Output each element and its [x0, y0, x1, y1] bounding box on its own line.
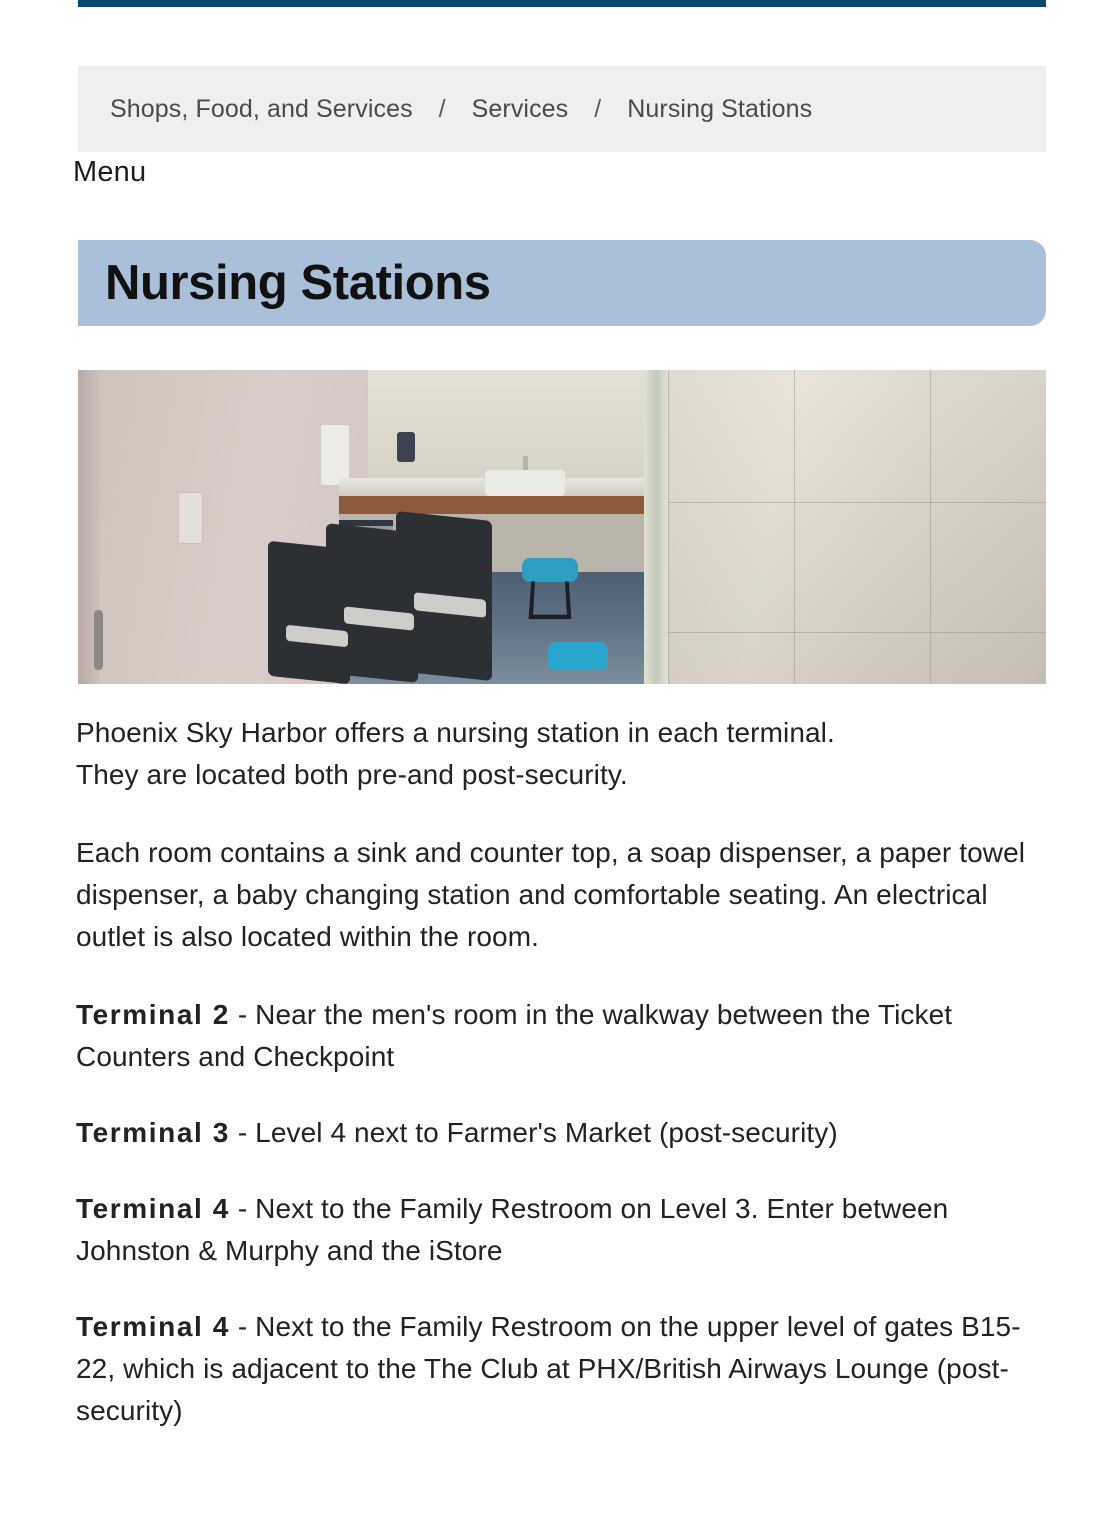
tile-grout-line: [794, 370, 795, 684]
intro-paragraph: Phoenix Sky Harbor offers a nursing stat…: [76, 712, 836, 796]
tile-grout-line: [668, 632, 1046, 633]
breadcrumb-item-nursing-stations: Nursing Stations: [627, 95, 812, 124]
page-title-banner: Nursing Stations: [78, 240, 1046, 326]
right-tiled-wall: [668, 370, 1046, 684]
door-handle-icon: [94, 610, 103, 670]
room-features-paragraph: Each room contains a sink and counter to…: [76, 832, 1028, 958]
blue-stool: [548, 642, 608, 670]
terminal-entry: Terminal 4 - Next to the Family Restroom…: [76, 1306, 1028, 1432]
terminal-entry: Terminal 4 - Next to the Family Restroom…: [76, 1188, 1028, 1272]
breadcrumb-separator: /: [568, 95, 627, 124]
terminal-description: - Level 4 next to Farmer's Market (post-…: [230, 1117, 838, 1148]
breadcrumb-item-shops-food-and-services[interactable]: Shops, Food, and Services: [110, 95, 413, 124]
blue-stool: [522, 558, 578, 582]
terminal-entry: Terminal 3 - Level 4 next to Farmer's Ma…: [76, 1112, 1028, 1154]
hero-image: NURSING ROOM: [78, 370, 1046, 684]
breadcrumb-separator: /: [413, 95, 472, 124]
terminal-label: Terminal 4: [76, 1193, 230, 1224]
soap-dispenser-icon: [397, 432, 415, 462]
terminal-entry: Terminal 2 - Near the men's room in the …: [76, 994, 1028, 1078]
breadcrumb: Shops, Food, and Services / Services / N…: [78, 66, 1046, 152]
sink: [485, 470, 565, 496]
page-title: Nursing Stations: [105, 259, 491, 308]
breadcrumb-item-services[interactable]: Services: [472, 95, 569, 124]
tile-grout-line: [668, 502, 1046, 503]
terminal-label: Terminal 3: [76, 1117, 230, 1148]
mirror: [368, 370, 658, 480]
door-jamb: [644, 370, 670, 684]
nursing-room-photo: NURSING ROOM: [78, 370, 1046, 684]
main-content: Phoenix Sky Harbor offers a nursing stat…: [76, 712, 1028, 1466]
tile-grout-line: [930, 370, 931, 684]
paper-towel-dispenser-icon: [320, 424, 350, 486]
tile-grout-line: [668, 370, 669, 684]
sanitizer-dispenser-icon: [178, 492, 203, 544]
terminal-label: Terminal 2: [76, 999, 230, 1030]
terminal-label: Terminal 4: [76, 1311, 230, 1342]
blue-stool-legs: [529, 581, 572, 619]
menu-toggle[interactable]: Menu: [73, 156, 146, 189]
top-accent-bar: [78, 0, 1046, 7]
